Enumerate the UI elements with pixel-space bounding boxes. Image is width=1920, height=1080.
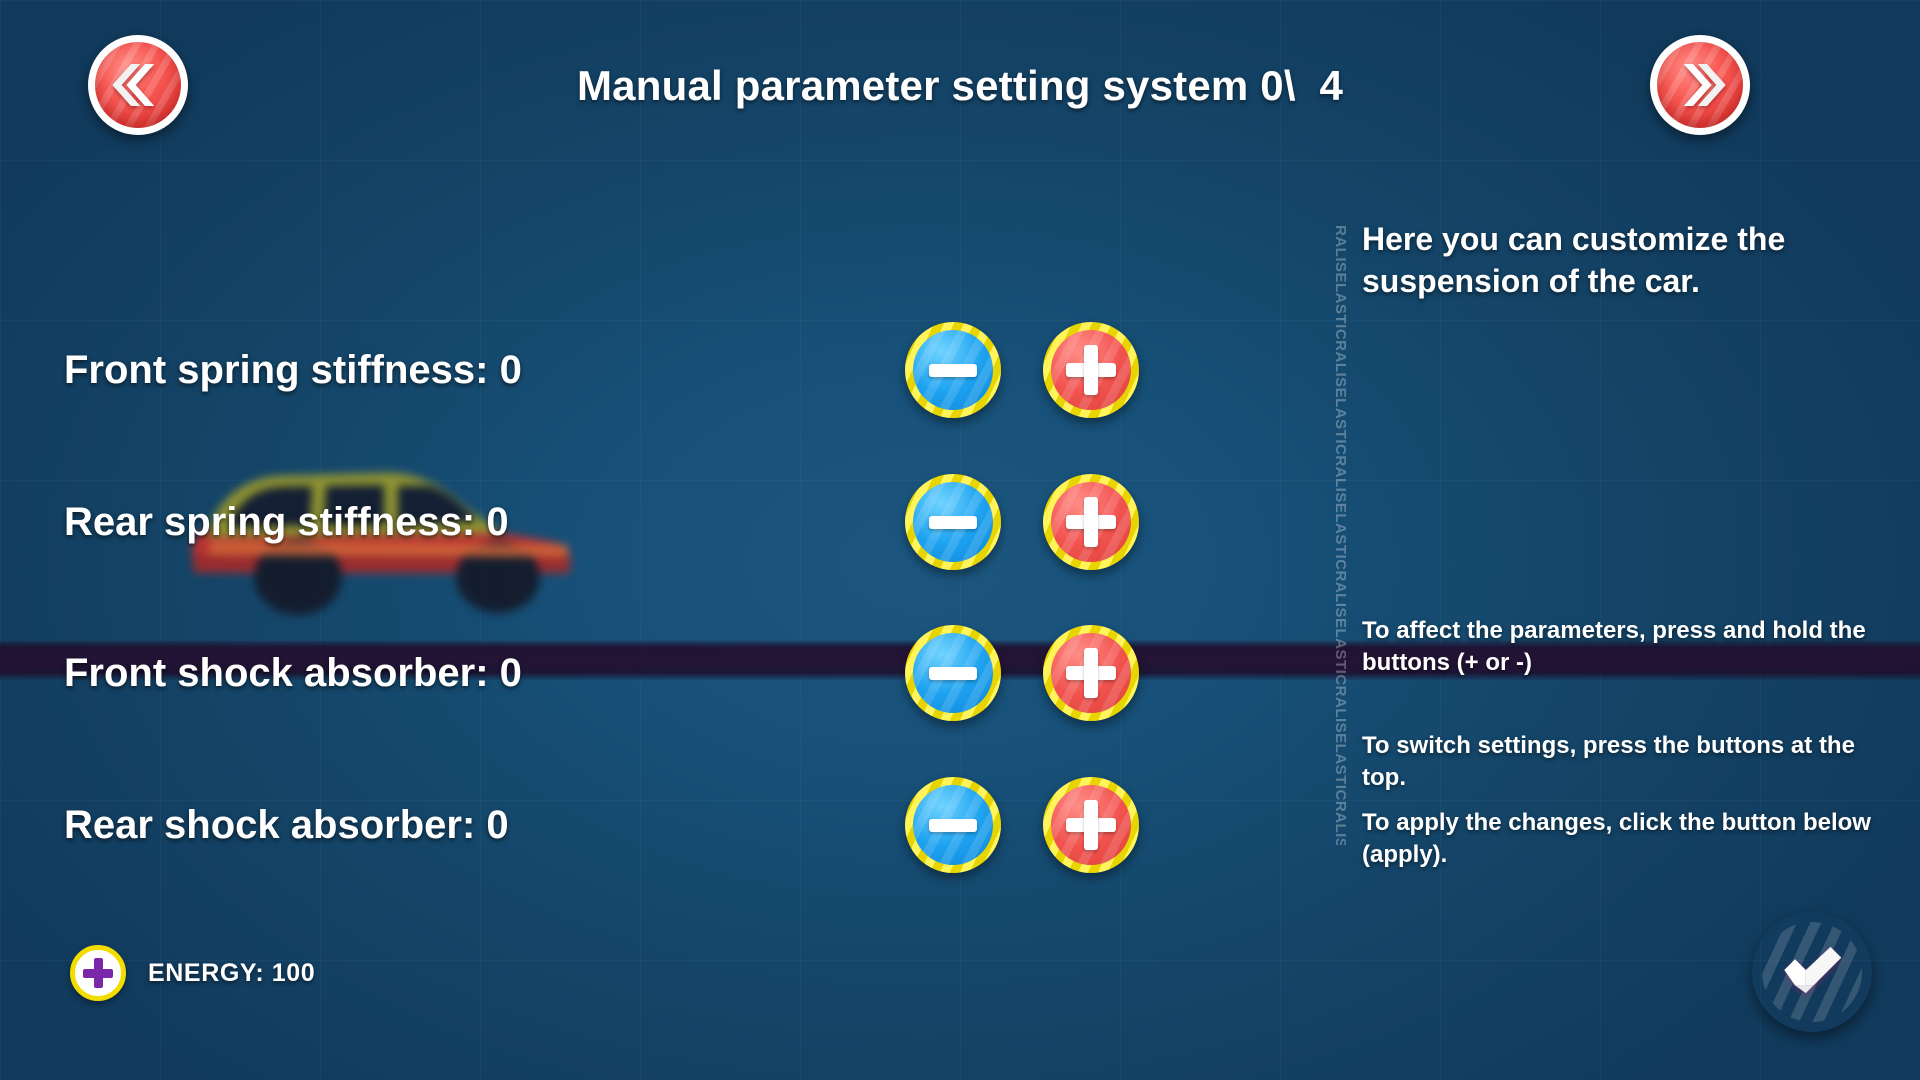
info-paragraph-switch: To switch settings, press the buttons at… [1362, 730, 1892, 794]
front-shock-absorber-label: Front shock absorber: 0 [64, 651, 522, 696]
front-spring-stiffness-controls [905, 322, 1139, 418]
rear-spring-stiffness-decrease-button[interactable] [905, 474, 1001, 570]
info-paragraph-buttons: To affect the parameters, press and hold… [1362, 615, 1872, 679]
parameter-list: Front spring stiffness: 0 Rear spring st… [0, 0, 1920, 1080]
info-panel: Here you can customize the suspension of… [1362, 218, 1907, 302]
plus-icon-vertical [94, 958, 103, 988]
apply-button[interactable] [1752, 912, 1872, 1032]
rear-spring-stiffness-increase-button[interactable] [1043, 474, 1139, 570]
plus-icon-vertical [1084, 497, 1098, 547]
rear-shock-absorber-label: Rear shock absorber: 0 [64, 803, 509, 848]
info-paragraph-apply: To apply the changes, click the button b… [1362, 807, 1887, 871]
rear-spring-stiffness-controls [905, 474, 1139, 570]
parameter-row: Rear spring stiffness: 0 [0, 462, 1920, 582]
parameter-row: Front spring stiffness: 0 [0, 310, 1920, 430]
energy-indicator: ENERGY: 100 [70, 945, 315, 1001]
rear-shock-absorber-decrease-button[interactable] [905, 777, 1001, 873]
plus-icon-vertical [1084, 648, 1098, 698]
minus-icon [929, 819, 977, 832]
energy-label: ENERGY: 100 [148, 959, 315, 988]
front-shock-absorber-increase-button[interactable] [1043, 625, 1139, 721]
minus-icon [929, 667, 977, 680]
check-icon [1775, 933, 1849, 1012]
minus-icon [929, 364, 977, 377]
front-shock-absorber-decrease-button[interactable] [905, 625, 1001, 721]
game-settings-screen: Manual parameter setting system 0\ 4 [0, 0, 1920, 1080]
front-spring-stiffness-decrease-button[interactable] [905, 322, 1001, 418]
energy-plus-icon[interactable] [70, 945, 126, 1001]
plus-icon-vertical [1084, 800, 1098, 850]
info-heading: Here you can customize the suspension of… [1362, 218, 1907, 302]
minus-icon [929, 516, 977, 529]
rear-shock-absorber-increase-button[interactable] [1043, 777, 1139, 873]
front-spring-stiffness-increase-button[interactable] [1043, 322, 1139, 418]
front-spring-stiffness-label: Front spring stiffness: 0 [64, 348, 522, 393]
rear-spring-stiffness-label: Rear spring stiffness: 0 [64, 500, 509, 545]
rear-shock-absorber-controls [905, 777, 1139, 873]
plus-icon-vertical [1084, 345, 1098, 395]
front-shock-absorber-controls [905, 625, 1139, 721]
